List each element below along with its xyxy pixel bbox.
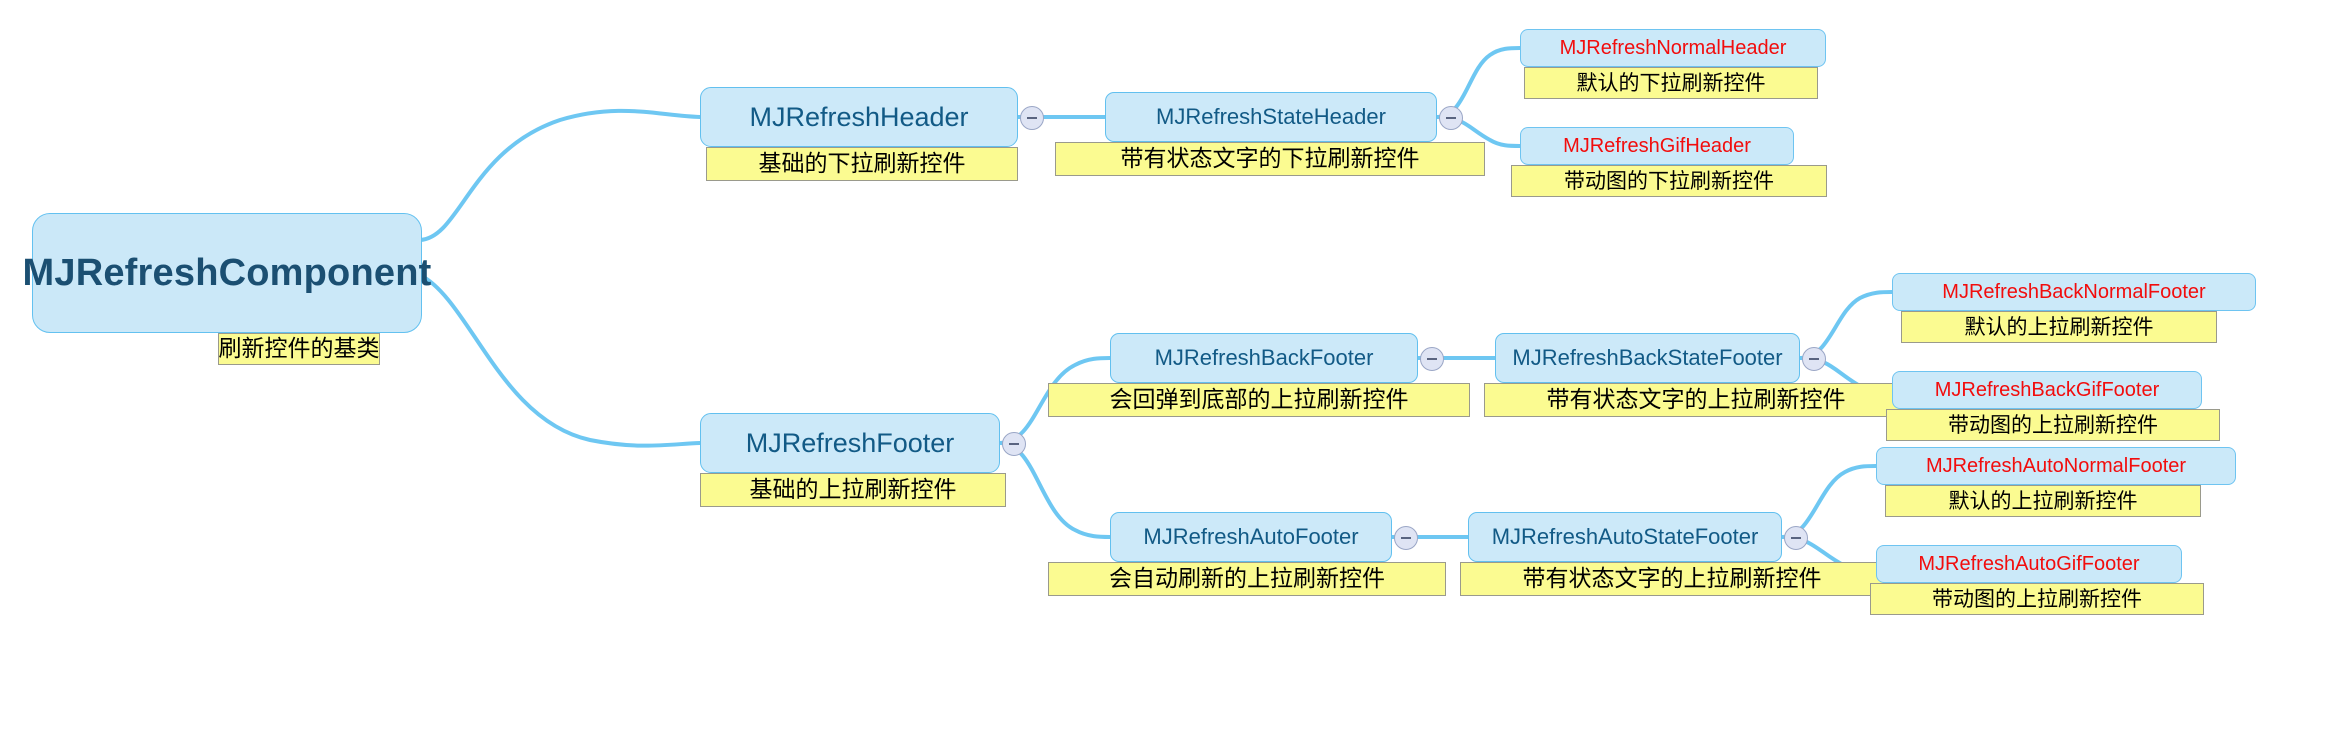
node-mjrefreshstateheader-label: MJRefreshStateHeader	[1156, 106, 1386, 128]
note-mjrefreshautofooter-text: 会自动刷新的上拉刷新控件	[1109, 568, 1385, 591]
link-footer-to-autofooter	[1000, 443, 1110, 537]
note-mjrefreshautostatefooter-text: 带有状态文字的上拉刷新控件	[1523, 568, 1822, 591]
note-mjrefreshnormalheader-text: 默认的下拉刷新控件	[1577, 73, 1766, 94]
node-root-label: MJRefreshComponent	[23, 254, 432, 292]
node-mjrefreshfooter[interactable]: MJRefreshFooter	[700, 413, 1000, 473]
node-root[interactable]: MJRefreshComponent	[32, 213, 422, 333]
node-mjrefreshheader-label: MJRefreshHeader	[749, 104, 968, 131]
note-mjrefreshheader: 基础的下拉刷新控件	[706, 147, 1018, 181]
node-mjrefreshgifheader-label: MJRefreshGifHeader	[1563, 136, 1751, 156]
node-mjrefreshnormalheader-label: MJRefreshNormalHeader	[1560, 38, 1787, 58]
node-mjrefreshbackfooter[interactable]: MJRefreshBackFooter	[1110, 333, 1418, 383]
note-mjrefreshstateheader-text: 带有状态文字的下拉刷新控件	[1121, 148, 1420, 171]
note-mjrefreshfooter: 基础的上拉刷新控件	[700, 473, 1006, 507]
note-mjrefreshbackstatefooter: 带有状态文字的上拉刷新控件	[1484, 383, 1908, 417]
node-mjrefreshautofooter[interactable]: MJRefreshAutoFooter	[1110, 512, 1392, 562]
node-mjrefreshautostatefooter[interactable]: MJRefreshAutoStateFooter	[1468, 512, 1782, 562]
node-mjrefreshnormalheader[interactable]: MJRefreshNormalHeader	[1520, 29, 1826, 67]
note-mjrefreshbackstatefooter-text: 带有状态文字的上拉刷新控件	[1547, 389, 1846, 412]
node-mjrefreshbacknormalfooter[interactable]: MJRefreshBackNormalFooter	[1892, 273, 2256, 311]
collapse-header-toggle[interactable]	[1020, 106, 1044, 130]
mindmap-canvas: MJRefreshComponent 刷新控件的基类 MJRefreshHead…	[0, 0, 2330, 746]
note-mjrefreshbackgiffooter-text: 带动图的上拉刷新控件	[1948, 415, 2158, 436]
node-mjrefreshautofooter-label: MJRefreshAutoFooter	[1143, 526, 1358, 548]
collapse-state-header-toggle[interactable]	[1439, 106, 1463, 130]
link-root-to-footer	[420, 275, 700, 446]
collapse-back-footer-toggle[interactable]	[1420, 347, 1444, 371]
node-mjrefreshstateheader[interactable]: MJRefreshStateHeader	[1105, 92, 1437, 142]
note-mjrefreshgifheader: 带动图的下拉刷新控件	[1511, 165, 1827, 197]
note-mjrefreshnormalheader: 默认的下拉刷新控件	[1524, 67, 1818, 99]
note-mjrefreshautogiffooter-text: 带动图的上拉刷新控件	[1932, 589, 2142, 610]
note-mjrefreshstateheader: 带有状态文字的下拉刷新控件	[1055, 142, 1485, 176]
collapse-footer-toggle[interactable]	[1002, 432, 1026, 456]
minus-icon	[1791, 537, 1801, 539]
node-mjrefreshautogiffooter-label: MJRefreshAutoGifFooter	[1918, 554, 2139, 574]
note-mjrefreshbackfooter-text: 会回弹到底部的上拉刷新控件	[1110, 389, 1409, 412]
collapse-auto-footer-toggle[interactable]	[1394, 526, 1418, 550]
collapse-back-state-footer-toggle[interactable]	[1802, 347, 1826, 371]
node-mjrefreshfooter-label: MJRefreshFooter	[746, 430, 955, 457]
minus-icon	[1809, 358, 1819, 360]
note-mjrefreshbacknormalfooter-text: 默认的上拉刷新控件	[1965, 317, 2154, 338]
minus-icon	[1446, 117, 1456, 119]
note-mjrefreshfooter-text: 基础的上拉刷新控件	[750, 479, 957, 502]
node-mjrefreshautogiffooter[interactable]: MJRefreshAutoGifFooter	[1876, 545, 2182, 583]
note-root-text: 刷新控件的基类	[219, 338, 380, 361]
note-mjrefreshheader-text: 基础的下拉刷新控件	[759, 153, 966, 176]
note-mjrefreshautonormalfooter: 默认的上拉刷新控件	[1885, 485, 2201, 517]
collapse-auto-state-footer-toggle[interactable]	[1784, 526, 1808, 550]
node-mjrefreshgifheader[interactable]: MJRefreshGifHeader	[1520, 127, 1794, 165]
note-mjrefreshbacknormalfooter: 默认的上拉刷新控件	[1901, 311, 2217, 343]
note-mjrefreshautostatefooter: 带有状态文字的上拉刷新控件	[1460, 562, 1884, 596]
node-mjrefreshbackstatefooter[interactable]: MJRefreshBackStateFooter	[1495, 333, 1800, 383]
minus-icon	[1009, 443, 1019, 445]
node-mjrefreshbackstatefooter-label: MJRefreshBackStateFooter	[1512, 347, 1782, 369]
node-mjrefreshheader[interactable]: MJRefreshHeader	[700, 87, 1018, 147]
node-mjrefreshbackfooter-label: MJRefreshBackFooter	[1155, 347, 1374, 369]
minus-icon	[1027, 117, 1037, 119]
note-mjrefreshautofooter: 会自动刷新的上拉刷新控件	[1048, 562, 1446, 596]
minus-icon	[1401, 537, 1411, 539]
note-mjrefreshgifheader-text: 带动图的下拉刷新控件	[1564, 171, 1774, 192]
node-mjrefreshautonormalfooter-label: MJRefreshAutoNormalFooter	[1926, 456, 2186, 476]
link-root-to-header	[420, 111, 700, 240]
node-mjrefreshautostatefooter-label: MJRefreshAutoStateFooter	[1492, 526, 1759, 548]
minus-icon	[1427, 358, 1437, 360]
node-mjrefreshbackgiffooter[interactable]: MJRefreshBackGifFooter	[1892, 371, 2202, 409]
node-mjrefreshbackgiffooter-label: MJRefreshBackGifFooter	[1935, 380, 2160, 400]
note-mjrefreshautonormalfooter-text: 默认的上拉刷新控件	[1949, 491, 2138, 512]
node-mjrefreshautonormalfooter[interactable]: MJRefreshAutoNormalFooter	[1876, 447, 2236, 485]
note-mjrefreshbackgiffooter: 带动图的上拉刷新控件	[1886, 409, 2220, 441]
note-mjrefreshbackfooter: 会回弹到底部的上拉刷新控件	[1048, 383, 1470, 417]
note-mjrefreshautogiffooter: 带动图的上拉刷新控件	[1870, 583, 2204, 615]
note-root: 刷新控件的基类	[218, 333, 380, 365]
node-mjrefreshbacknormalfooter-label: MJRefreshBackNormalFooter	[1942, 282, 2205, 302]
